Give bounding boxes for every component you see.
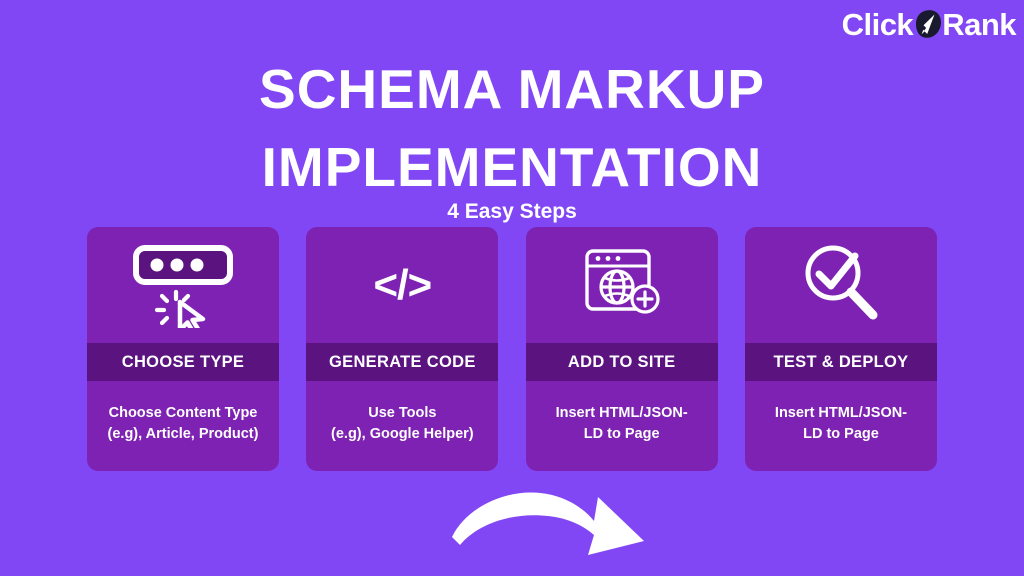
brand-name-rank: Rank	[942, 9, 1016, 40]
step-band-label: GENERATE CODE	[306, 343, 498, 381]
rocket-arrow-icon	[910, 7, 944, 41]
magnifier-check-icon	[745, 227, 937, 343]
step-card-generate-code[interactable]: </> GENERATE CODE Use Tools (e.g), Googl…	[306, 227, 498, 471]
step-band-label: TEST & DEPLOY	[745, 343, 937, 381]
step-card-add-to-site[interactable]: ADD TO SITE Insert HTML/JSON- LD to Page	[526, 227, 718, 471]
step-band-label: ADD TO SITE	[526, 343, 718, 381]
step-description: Insert HTML/JSON- LD to Page	[526, 381, 718, 471]
steps-row: CHOOSE TYPE Choose Content Type (e.g), A…	[87, 227, 937, 471]
code-brackets-icon: </>	[306, 227, 498, 343]
step-description: Insert HTML/JSON- LD to Page	[745, 381, 937, 471]
brand-name-click: Click	[842, 9, 914, 40]
code-brackets-glyph: </>	[373, 261, 431, 309]
step-band-label: CHOOSE TYPE	[87, 343, 279, 381]
title-line-2: IMPLEMENTATION	[0, 128, 1024, 206]
step-description: Choose Content Type (e.g), Article, Prod…	[87, 381, 279, 471]
poster-canvas: Click Rank SCHEMA MARKUP IMPLEMENTATION …	[0, 0, 1024, 576]
page-subtitle: 4 Easy Steps	[0, 200, 1024, 224]
step-card-choose-type[interactable]: CHOOSE TYPE Choose Content Type (e.g), A…	[87, 227, 279, 471]
page-title: SCHEMA MARKUP IMPLEMENTATION	[0, 50, 1024, 206]
step-card-test-deploy[interactable]: TEST & DEPLOY Insert HTML/JSON- LD to Pa…	[745, 227, 937, 471]
title-line-1: SCHEMA MARKUP	[259, 58, 765, 120]
step-description: Use Tools (e.g), Google Helper)	[306, 381, 498, 471]
brand-logo: Click Rank	[842, 4, 1016, 44]
dropdown-click-icon	[87, 227, 279, 343]
curved-arrow-right-icon	[448, 483, 648, 563]
browser-globe-add-icon	[526, 227, 718, 343]
